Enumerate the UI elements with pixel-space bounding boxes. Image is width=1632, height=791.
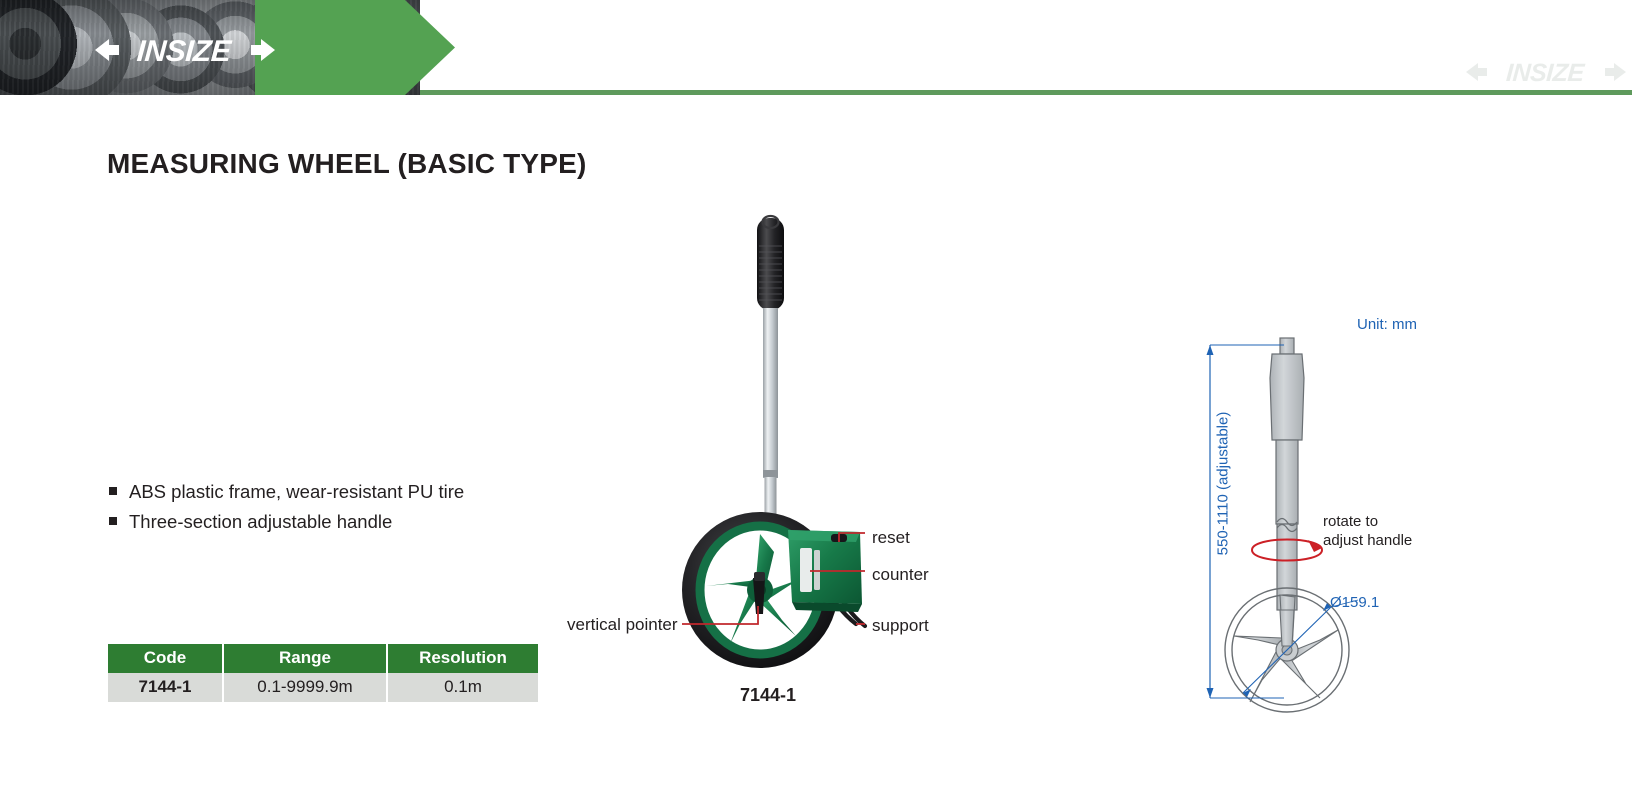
header-green-rule	[420, 90, 1632, 95]
callout-label-support: support	[872, 616, 929, 636]
column-header-resolution: Resolution	[387, 644, 538, 673]
callout-label-counter: counter	[872, 565, 929, 585]
diameter-dimension-label: Ø159.1	[1330, 594, 1379, 611]
cell-resolution: 0.1m	[387, 673, 538, 702]
drawing-handle	[1270, 338, 1304, 610]
cell-range: 0.1-9999.9m	[223, 673, 387, 702]
product-photo-block: reset counter support vertical pointer 7…	[560, 200, 980, 720]
table-row: 7144-1 0.1-9999.9m 0.1m	[108, 673, 538, 702]
page-header: INSIZE INSIZE	[0, 0, 1632, 97]
feature-list: ABS plastic frame, wear-resistant PU tir…	[109, 480, 629, 539]
height-dimension-label: 550-1110 (adjustable)	[1215, 394, 1232, 574]
callout-label-vertical-pointer: vertical pointer	[567, 615, 678, 635]
leader-vertical-pointer	[682, 606, 758, 624]
square-bullet-icon	[109, 517, 117, 525]
insize-logo: INSIZE	[95, 33, 275, 67]
callout-label-reset: reset	[872, 528, 910, 548]
callout-leader-lines	[560, 200, 980, 670]
feature-item: ABS plastic frame, wear-resistant PU tir…	[109, 480, 629, 504]
column-header-code: Code	[108, 644, 223, 673]
page-title: MEASURING WHEEL (BASIC TYPE)	[107, 148, 587, 180]
rotate-note-line-2: adjust handle	[1323, 531, 1412, 550]
technical-drawing-block: Unit: mm 550-1110 (adjustable) Ø159.1 ro…	[1180, 300, 1620, 730]
table-header-row: Code Range Resolution	[108, 644, 538, 673]
svg-text:INSIZE: INSIZE	[136, 35, 233, 67]
product-model-caption: 7144-1	[740, 685, 796, 706]
svg-text:INSIZE: INSIZE	[1505, 59, 1586, 86]
specification-table: Code Range Resolution 7144-1 0.1-9999.9m…	[108, 644, 538, 702]
insize-watermark-logo: INSIZE	[1466, 58, 1626, 86]
unit-label: Unit: mm	[1357, 316, 1417, 333]
header-green-chevron	[255, 0, 455, 95]
column-header-range: Range	[223, 644, 387, 673]
feature-text: ABS plastic frame, wear-resistant PU tir…	[129, 480, 464, 504]
rotate-handle-note: rotate to adjust handle	[1323, 512, 1412, 550]
leader-reset	[839, 533, 865, 542]
feature-item: Three-section adjustable handle	[109, 510, 629, 534]
cell-code: 7144-1	[108, 673, 223, 702]
rotate-note-line-1: rotate to	[1323, 512, 1412, 531]
feature-text: Three-section adjustable handle	[129, 510, 392, 534]
square-bullet-icon	[109, 487, 117, 495]
